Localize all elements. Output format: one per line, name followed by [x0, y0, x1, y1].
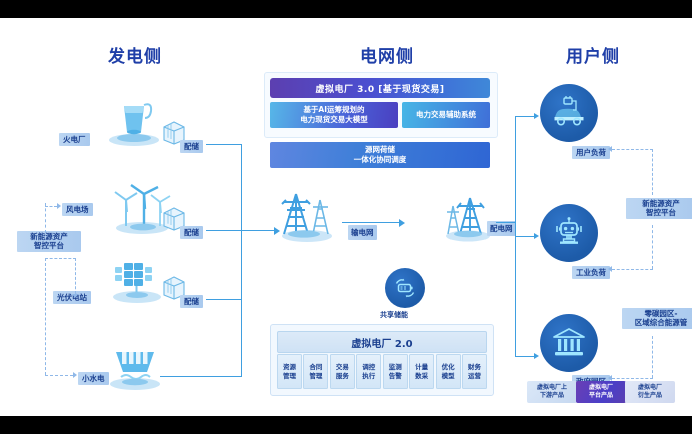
- hydro-plant-icon: [105, 338, 165, 392]
- dashed-line-to-wind: [45, 206, 57, 207]
- dashed-arrow-solar: [72, 294, 78, 298]
- vpp3-title-bar[interactable]: 虚拟电厂 3.0 [基于现货交易]: [270, 78, 490, 98]
- storage-label-3: 配储: [180, 295, 203, 308]
- line-solar-out: [206, 299, 242, 300]
- arrow-government-park: [534, 353, 539, 359]
- transmission-tower-icon: [276, 186, 338, 244]
- dashed-line-platform-down: [45, 258, 46, 375]
- line-thermal-out: [206, 144, 242, 145]
- shared-storage-label: 共享储能: [380, 310, 408, 320]
- legend-item-derivative: 虚拟电厂 衍生产品: [625, 381, 675, 403]
- vpp2-panel: 虚拟电厂 2.0 资源 管理 合同 管理 交易 服务 调控 执行 监测 告警 计…: [270, 324, 494, 396]
- dashed-line-industrial-annotation: [652, 225, 653, 269]
- annotation-zero-carbon-park: 零碳园区- 区域综合能源管: [622, 308, 692, 329]
- coordination-bar[interactable]: 源网荷储 一体化协同调度: [270, 142, 490, 168]
- dashed-line-user-load-annotation: [652, 149, 653, 195]
- vpp2-module[interactable]: 交易 服务: [330, 354, 355, 389]
- source-label-thermal: 火电厂: [59, 133, 90, 146]
- solar-plant-icon: [108, 253, 166, 305]
- shared-storage-icon[interactable]: [385, 268, 425, 308]
- storage-label-2: 配储: [180, 226, 203, 239]
- line-to-government-park: [515, 356, 535, 357]
- dashed-line-park-annotation: [652, 336, 653, 378]
- legend-item-platform: 虚拟电厂 平台产品: [576, 381, 626, 403]
- vpp2-module[interactable]: 监测 告警: [383, 354, 408, 389]
- diagram-canvas: 发电侧 电网侧 用户侧 火电厂 配储: [0, 18, 692, 416]
- column-title-grid: 电网侧: [360, 42, 414, 67]
- line-collector-bus: [241, 144, 242, 377]
- dashed-line-industrial-annotation-h: [612, 269, 653, 270]
- line-to-industrial-load: [515, 236, 535, 237]
- vpp2-module[interactable]: 优化 模型: [436, 354, 461, 389]
- government-building-icon[interactable]: [540, 314, 598, 372]
- line-wind-out: [206, 230, 242, 231]
- legend-item-upstream: 虚拟电厂上 下游产品: [527, 381, 577, 403]
- vpp2-module[interactable]: 财务 运营: [462, 354, 487, 389]
- vpp2-module[interactable]: 资源 管理: [277, 354, 302, 389]
- dashed-line-solar-branch: [45, 258, 76, 259]
- load-label-user: 用户负荷: [572, 146, 610, 159]
- annotation-new-energy-platform-right: 新能源资产 智控平台: [626, 198, 692, 219]
- line-to-user-load: [515, 116, 535, 117]
- vpp2-module-list: 资源 管理 合同 管理 交易 服务 调控 执行 监测 告警 计量 数采 优化 模…: [277, 354, 487, 389]
- vpp2-module[interactable]: 计量 数采: [409, 354, 434, 389]
- screenshot-frame: 发电侧 电网侧 用户侧 火电厂 配储: [0, 0, 692, 434]
- vpp3-sub-ai-model[interactable]: 基于AI运筹规划的 电力现货交易大模型: [270, 102, 398, 128]
- line-dist-out: [496, 222, 516, 223]
- arrow-industrial-load: [534, 233, 539, 239]
- dashed-arrow-user-load: [608, 146, 612, 152]
- new-energy-asset-platform-left: 新能源资产 智控平台: [17, 231, 81, 252]
- dashed-line-park-annotation-h: [612, 378, 653, 379]
- vpp2-title: 虚拟电厂 2.0: [277, 331, 487, 353]
- storage-label-1: 配储: [180, 140, 203, 153]
- column-title-generation: 发电侧: [108, 42, 162, 67]
- line-bus-to-transmission: [241, 230, 275, 231]
- industrial-robot-icon[interactable]: [540, 204, 598, 262]
- vpp3-sub-trading-assist[interactable]: 电力交易辅助系统: [402, 102, 490, 128]
- dashed-line-to-hydro: [45, 375, 73, 376]
- load-label-industrial: 工业负荷: [572, 266, 610, 279]
- arrow-user-load: [534, 113, 539, 119]
- source-label-hydro: 小水电: [78, 372, 109, 385]
- line-transmission-to-distribution: [342, 222, 400, 223]
- line-hydro-out: [160, 376, 242, 377]
- dashed-line-user-load-h: [612, 149, 653, 150]
- column-title-user: 用户侧: [566, 42, 620, 67]
- source-label-wind: 风电场: [62, 203, 93, 216]
- ev-charging-icon[interactable]: [540, 84, 598, 142]
- dashed-line-to-solar: [75, 258, 76, 294]
- thermal-plant-icon: [106, 96, 162, 148]
- transmission-grid-label: 输电网: [348, 225, 377, 240]
- vpp2-module[interactable]: 合同 管理: [303, 354, 328, 389]
- dashed-arrow-wind: [57, 203, 61, 209]
- vpp2-module[interactable]: 调控 执行: [356, 354, 381, 389]
- dashed-line-platform-up: [45, 203, 46, 233]
- dashed-arrow-industrial: [608, 266, 612, 272]
- dashed-arrow-hydro: [73, 372, 77, 378]
- arrow-to-distribution: [399, 219, 405, 227]
